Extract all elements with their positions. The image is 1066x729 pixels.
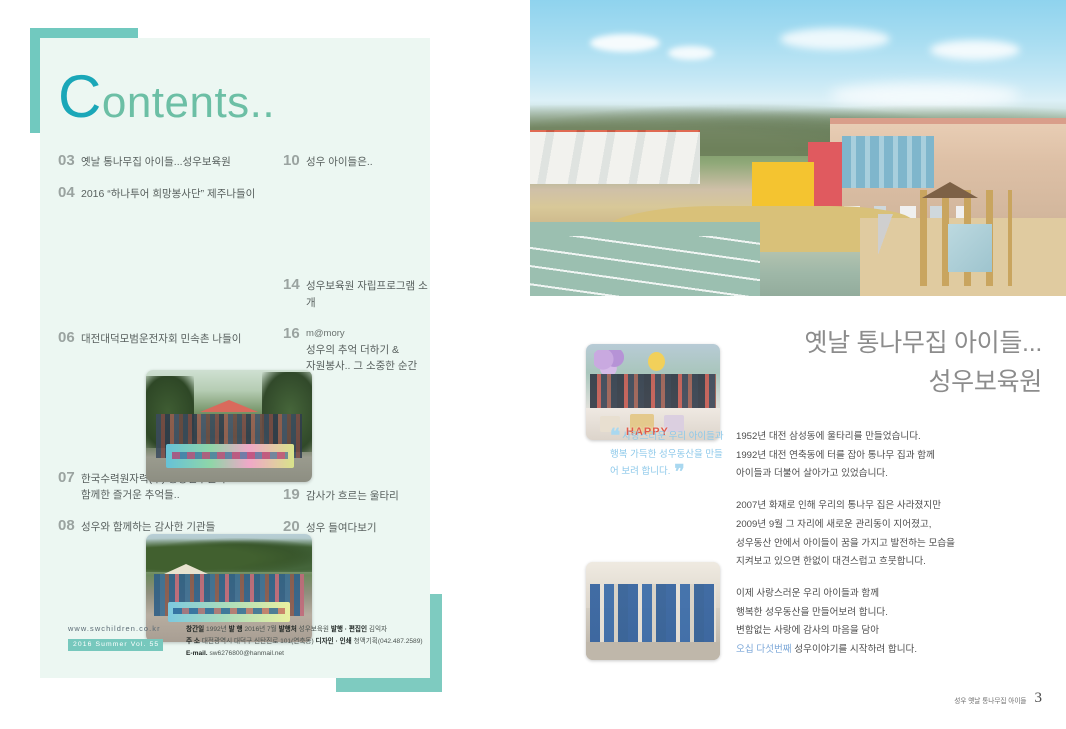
photo-glass-facade	[842, 136, 934, 188]
label-issued: 발 행	[229, 626, 243, 633]
headline-line-2: 성우보육원	[804, 363, 1042, 402]
toc-page-number: 14	[283, 276, 306, 293]
article-body: 1952년 대전 삼성동에 울타리를 만들었습니다. 1992년 대전 연축동에…	[736, 428, 1036, 673]
toc-entry-section-label: m@mory	[306, 327, 417, 342]
photo-cloud	[590, 34, 660, 52]
toc-column-left: 03 옛날 통나무집 아이들...성우보육원 04 2016 “하나투어 희망봉…	[58, 152, 273, 550]
toc-entry-title: m@mory 성우의 추억 더하기 & 자원봉사.. 그 소중한 순간	[306, 325, 417, 374]
colophon-line-address: 주 소 대전광역시 대덕구 신탄진로 101(연축동) 디자인 · 인쇄 청맥기…	[186, 636, 418, 648]
label-founded: 창간일	[186, 626, 204, 633]
colophon-right: 창간일 1992년 발 행 2016년 7월 발행처 성우보육원 발행 · 편집…	[186, 624, 418, 661]
toc-entry-line-2: 함께한 즐거운 추억들..	[81, 487, 226, 503]
toc-page-number: 03	[58, 152, 81, 169]
toc-page-number: 16	[283, 325, 306, 342]
list-item[interactable]: 19 감사가 흐르는 울타리	[283, 486, 433, 504]
colophon-line-email: E-mail. sw6276800@hanmail.net	[186, 648, 418, 660]
toc-page-number: 10	[283, 152, 306, 169]
toc-page-number: 06	[58, 329, 81, 346]
body-line: 이제 사랑스러운 우리 아이들과 함께	[736, 585, 1036, 604]
body-line: 지켜보고 있으면 한없이 대견스럽고 흐뭇합니다.	[736, 553, 1036, 572]
photo-event-banner	[166, 444, 294, 468]
toc-entry-line-2: 자원봉사.. 그 소중한 순간	[306, 358, 417, 374]
page-number: 3	[1035, 690, 1043, 707]
paragraph: 2007년 화재로 인해 우리의 통나무 집은 사라졌지만 2009년 9월 그…	[736, 497, 1036, 572]
body-line: 2007년 화재로 인해 우리의 통나무 집은 사라졌지만	[736, 497, 1036, 516]
article-headline: 옛날 통나무집 아이들... 성우보육원	[804, 324, 1042, 402]
page-title-initial: C	[58, 63, 102, 130]
value-editor: 김익자	[369, 626, 387, 633]
toc-entry-title: 2016 “하나투어 희망봉사단” 제주나들이	[81, 184, 255, 202]
toc-entry-title: 대전대덕모범운전자회 민속촌 나들이	[81, 329, 241, 347]
photo-pavilion-roof	[200, 400, 258, 412]
photo-court-lines	[530, 236, 760, 296]
photo-event-banner	[168, 602, 290, 622]
toc-entry-title: 옛날 통나무집 아이들...성우보육원	[81, 152, 231, 170]
body-line: 행복한 성우동산을 만들어보려 합니다.	[736, 604, 1036, 623]
photo-campus-aerial	[530, 0, 1066, 296]
quote-open-icon: ❝	[610, 426, 620, 447]
toc-page-number: 20	[283, 518, 306, 535]
body-line: 아이들과 더불어 살아가고 있었습니다.	[736, 465, 1036, 484]
toc-entry-line-1: 성우의 추억 더하기 &	[306, 342, 417, 358]
right-page: 옛날 통나무집 아이들... 성우보육원 ❝사랑스러운 우리 아이들과 행복 가…	[520, 0, 1066, 729]
toc-entry-title: 감사가 흐르는 울타리	[306, 486, 399, 504]
label-address: 주 소	[186, 638, 200, 645]
list-item[interactable]: 20 성우 들여다보기	[283, 518, 433, 536]
colophon-line-publication: 창간일 1992년 발 행 2016년 7월 발행처 성우보육원 발행 · 편집…	[186, 624, 418, 636]
page-footer: 성우 옛날 통나무집 아이들 3	[954, 690, 1042, 707]
toc-page-number: 07	[58, 469, 81, 486]
photo-dormitory-row	[530, 132, 700, 184]
footer-section-label: 성우 옛날 통나무집 아이들	[954, 695, 1026, 707]
photo-cloud	[930, 40, 1020, 60]
label-email: E-mail.	[186, 650, 208, 657]
highlight-issue-number: 오십 다섯번째	[736, 644, 792, 655]
page-title: Contents..	[58, 62, 275, 131]
value-issued: 2016년 7월	[244, 626, 276, 633]
list-item[interactable]: 03 옛날 통나무집 아이들...성우보육원	[58, 152, 273, 170]
value-founded: 1992년	[206, 626, 227, 633]
colophon-left: www.swchildren.co.kr 2016 Summer Vol. 55	[68, 624, 180, 651]
toc-page-number: 08	[58, 517, 81, 534]
body-line: 1992년 대전 연축동에 터를 잡아 통나무 집과 함께	[736, 447, 1036, 466]
toc-entry-title: 성우 아이들은..	[306, 152, 373, 170]
label-publisher: 발행처	[279, 626, 297, 633]
body-line-rest: 성우이야기를 시작하려 합니다.	[792, 644, 917, 655]
value-publisher: 성우보육원	[299, 626, 329, 633]
paragraph: 1952년 대전 삼성동에 울타리를 만들었습니다. 1992년 대전 연축동에…	[736, 428, 1036, 484]
toc-page-number: 04	[58, 184, 81, 201]
toc-column-right: 10 성우 아이들은.. HAPPY 14 성우보육원 자립프로그램 소개 16…	[283, 152, 433, 551]
body-line: 2009년 9월 그 자리에 새로운 관리동이 지어졌고,	[736, 516, 1036, 535]
quote-close-icon: ❞	[674, 462, 684, 483]
pull-quote: ❝사랑스러운 우리 아이들과 행복 가득한 성우동산을 만들어 보려 합니다.❞	[610, 428, 730, 481]
photo-play-panel	[948, 224, 992, 272]
headline-line-1: 옛날 통나무집 아이들...	[804, 329, 1042, 357]
list-item[interactable]: 16 m@mory 성우의 추억 더하기 & 자원봉사.. 그 소중한 순간	[283, 325, 433, 374]
toc-page-number: 19	[283, 486, 306, 503]
volume-badge: 2016 Summer Vol. 55	[68, 639, 163, 651]
website-url[interactable]: www.swchildren.co.kr	[68, 624, 180, 633]
paragraph: 이제 사랑스러운 우리 아이들과 함께 행복한 성우동산을 만들어보려 합니다.…	[736, 585, 1036, 660]
page-title-rest: ontents..	[102, 78, 275, 127]
list-item[interactable]: 04 2016 “하나투어 희망봉사단” 제주나들이	[58, 184, 273, 202]
body-line-highlighted: 오십 다섯번째 성우이야기를 시작하려 합니다.	[736, 641, 1036, 660]
pull-quote-text: 사랑스러운 우리 아이들과 행복 가득한 성우동산을 만들어 보려 합니다.	[610, 431, 724, 477]
value-email[interactable]: sw6276800@hanmail.net	[209, 650, 284, 657]
list-item[interactable]: 06 대전대덕모범운전자회 민속촌 나들이	[58, 329, 273, 347]
list-item[interactable]: 10 성우 아이들은..	[283, 152, 433, 170]
list-item[interactable]: 14 성우보육원 자립프로그램 소개	[283, 276, 433, 311]
body-line: 1952년 대전 삼성동에 울타리를 만들었습니다.	[736, 428, 1036, 447]
label-editor: 발행 · 편집인	[331, 626, 367, 633]
value-design-print: 청맥기획(042.487.2589)	[354, 638, 423, 645]
toc-entry-title: 성우와 함께하는 감사한 기관들	[81, 517, 215, 535]
photo-cloud	[780, 28, 890, 50]
toc-entry-title: 성우보육원 자립프로그램 소개	[306, 276, 433, 311]
body-line: 변함없는 사랑에 감사의 마음을 담아	[736, 622, 1036, 641]
body-line: 성우동산 안에서 아이들이 꿈을 가지고 발전하는 모습을	[736, 535, 1036, 554]
toc-entry-title: 성우 들여다보기	[306, 518, 377, 536]
label-design-print: 디자인 · 인쇄	[316, 638, 352, 645]
photo-cloud	[668, 46, 714, 60]
left-page: Contents.. 03 옛날 통나무집 아이들...성우보육원 04 201…	[0, 0, 520, 729]
list-item[interactable]: 08 성우와 함께하는 감사한 기관들	[58, 517, 273, 535]
value-address: 대전광역시 대덕구 신탄진로 101(연축동)	[202, 638, 314, 645]
